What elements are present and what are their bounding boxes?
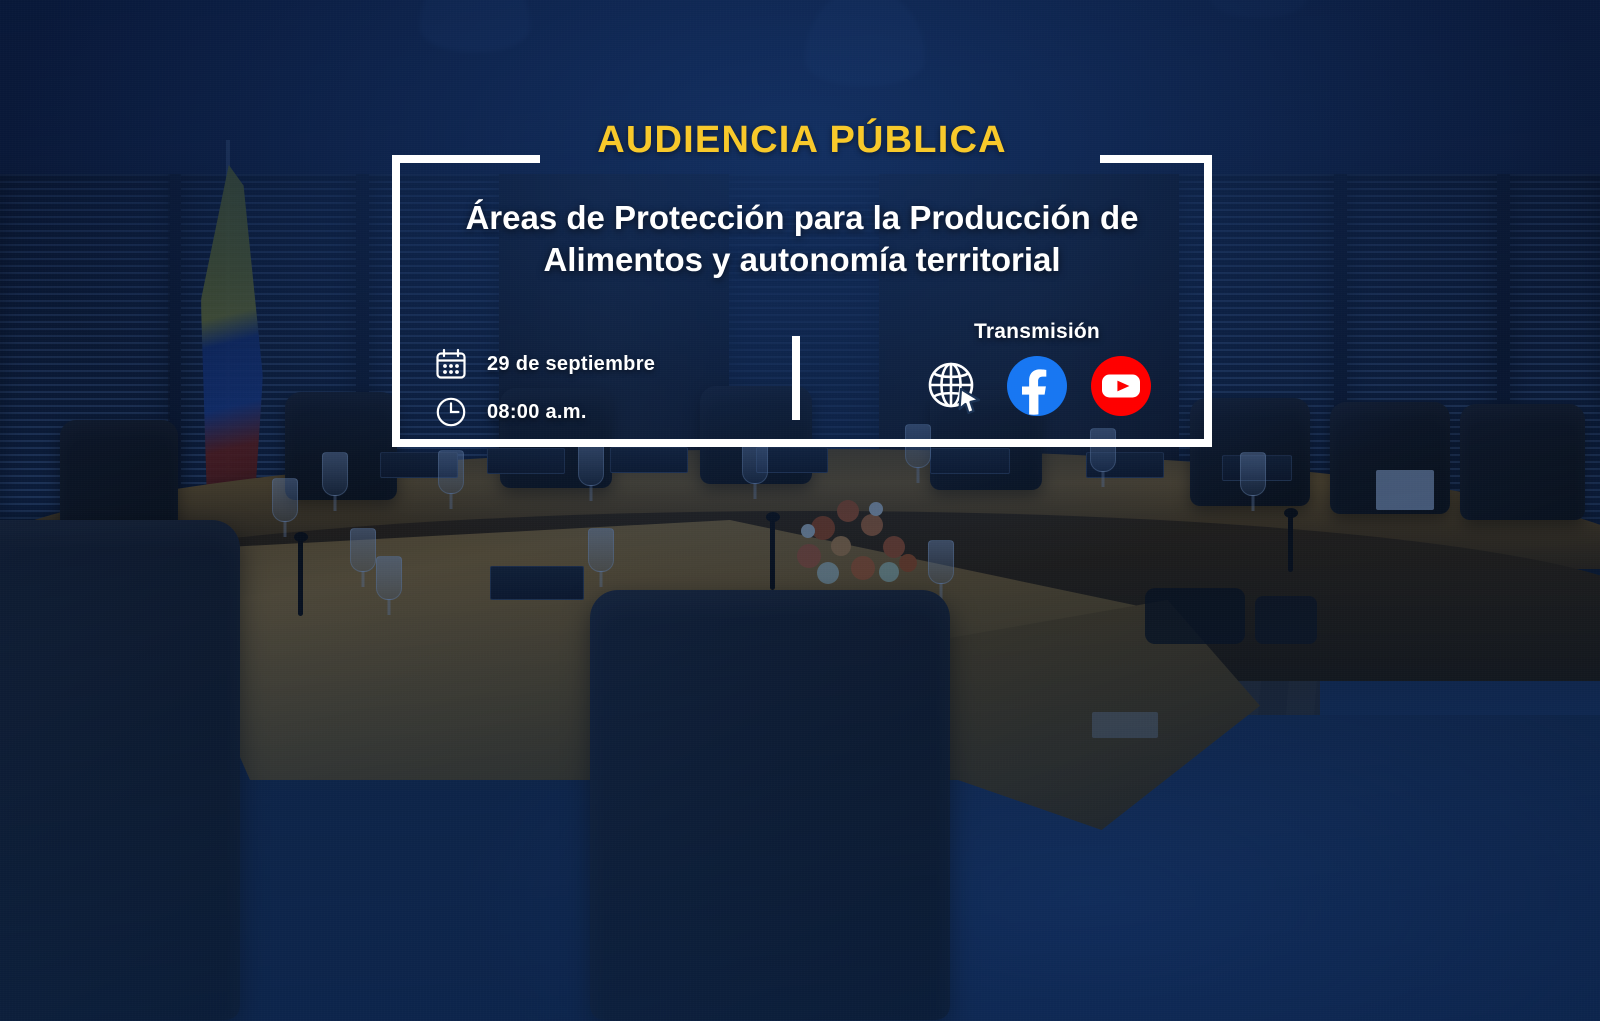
event-details-bar: 29 de septiembre 08:00 a.m. Transmisión xyxy=(392,330,1212,430)
event-time: 08:00 a.m. xyxy=(487,401,587,424)
event-type-label: AUDIENCIA PÚBLICA xyxy=(392,119,1212,162)
frame-border-bottom xyxy=(392,439,1212,447)
globe-cursor-icon[interactable] xyxy=(923,356,983,416)
vertical-divider xyxy=(792,336,800,420)
page-title-line-2: Alimentos y autonomía territorial xyxy=(422,239,1182,281)
youtube-icon[interactable] xyxy=(1091,356,1151,416)
calendar-icon xyxy=(434,347,468,381)
broadcast-label: Transmisión xyxy=(892,320,1182,344)
page-title-line-1: Áreas de Protección para la Producción d… xyxy=(422,197,1182,239)
broadcast-channels xyxy=(892,356,1182,416)
page-title: Áreas de Protección para la Producción d… xyxy=(422,197,1182,281)
announcement-frame: AUDIENCIA PÚBLICA Áreas de Protección pa… xyxy=(392,155,1212,447)
schedule-block: 29 de septiembre 08:00 a.m. xyxy=(434,342,655,434)
poster-canvas: AUDIENCIA PÚBLICA Áreas de Protección pa… xyxy=(0,0,1600,1021)
schedule-row-date: 29 de septiembre xyxy=(434,342,655,386)
event-date: 29 de septiembre xyxy=(487,353,655,376)
schedule-row-time: 08:00 a.m. xyxy=(434,390,655,434)
broadcast-block: Transmisión xyxy=(892,320,1182,416)
facebook-icon[interactable] xyxy=(1007,356,1067,416)
clock-icon xyxy=(434,395,468,429)
